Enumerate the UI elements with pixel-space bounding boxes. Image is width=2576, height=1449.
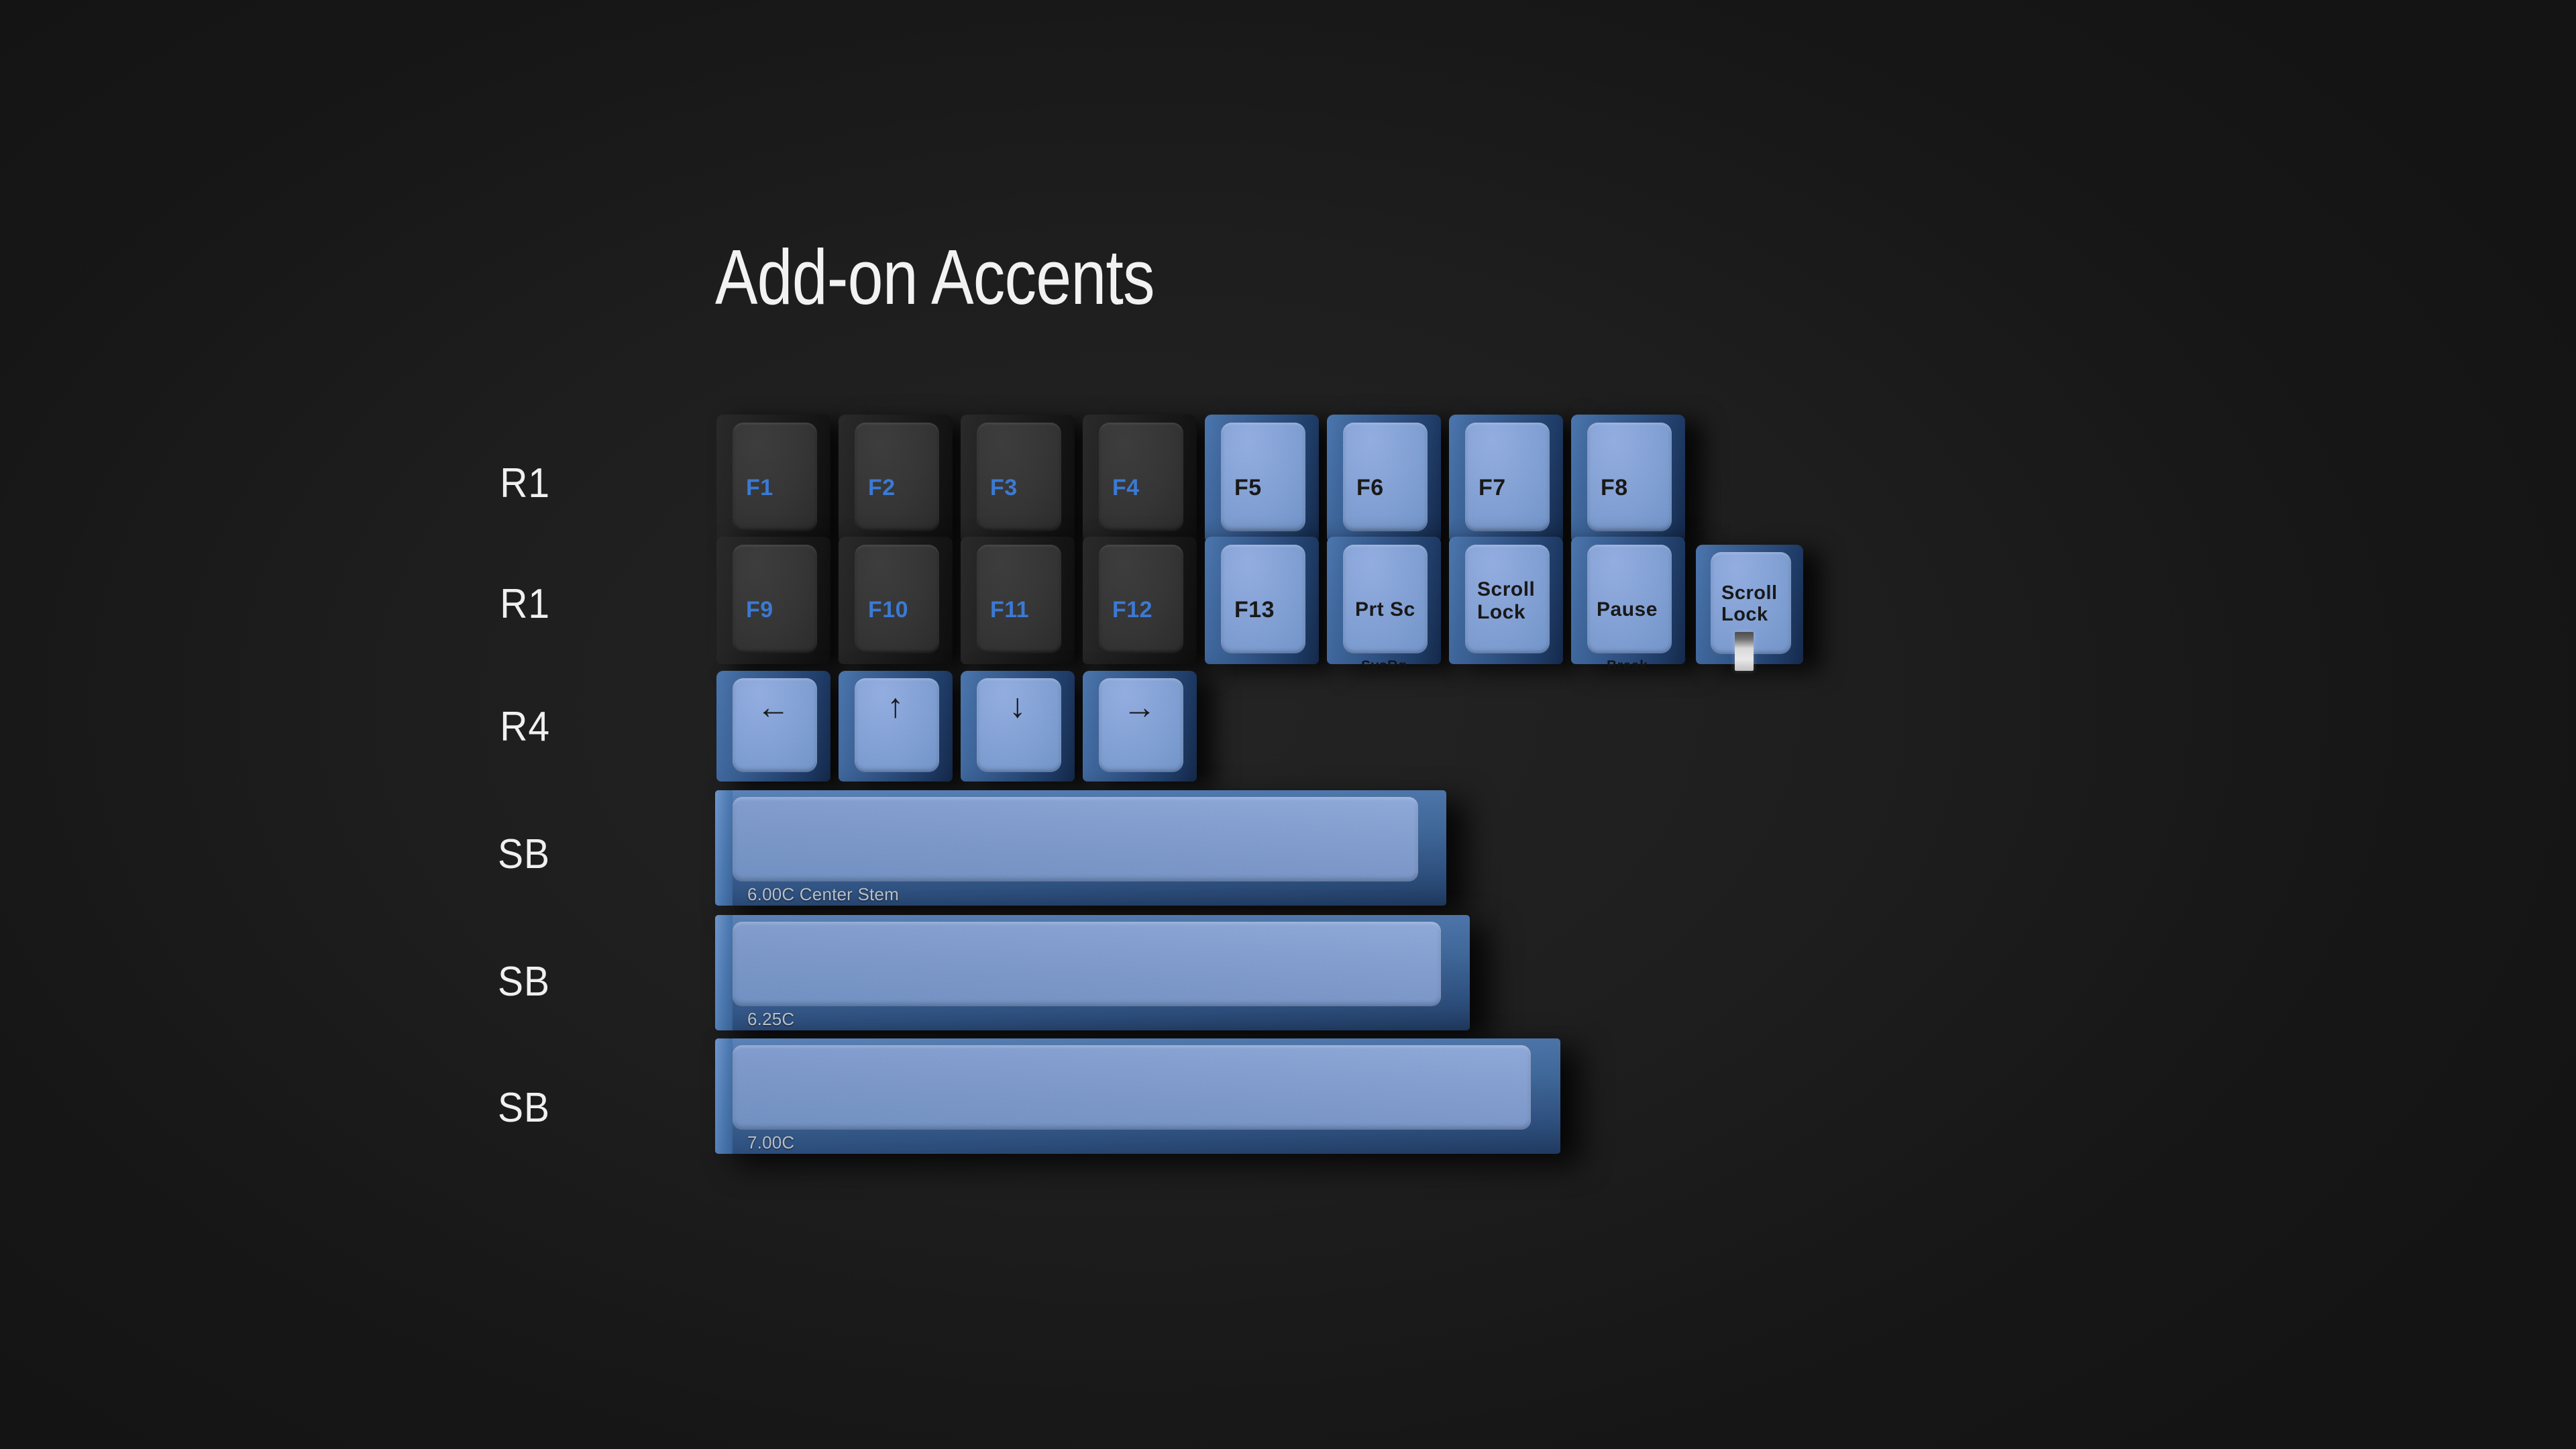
keycap-legend: F5	[1234, 475, 1262, 500]
keycap-face	[855, 423, 939, 531]
keycap-arrow-up[interactable]: ↑	[839, 671, 953, 782]
spacebar-face	[733, 922, 1441, 1006]
keycap-legend: F10	[868, 597, 908, 623]
keycap-face	[1465, 423, 1550, 531]
spacebar-face	[733, 1045, 1531, 1130]
keycap-legend: Scroll Lock	[1721, 582, 1778, 626]
keycap-f10[interactable]: F10	[839, 537, 953, 664]
keycap-arrow-left[interactable]: ←	[716, 671, 830, 782]
led-indicator-icon	[1735, 632, 1754, 671]
keycap-legend: Pause	[1597, 598, 1658, 621]
row-label-r4: R4	[396, 703, 550, 751]
keycap-legend: Prt Sc	[1355, 598, 1415, 621]
row-label-r1-top: R1	[396, 460, 550, 507]
keycap-f7[interactable]: F7	[1449, 415, 1563, 542]
keycap-legend: F6	[1356, 475, 1384, 500]
keycap-scroll-lock-led[interactable]: Scroll Lock	[1696, 545, 1803, 664]
keycap-scroll-lock[interactable]: Scroll Lock	[1449, 537, 1563, 664]
keycap-face	[733, 423, 817, 531]
spacebar-bevel	[715, 915, 733, 1030]
keycap-face	[1587, 423, 1672, 531]
keycap-front-legend-sysrq: SysRq	[1361, 658, 1407, 674]
keycap-legend: F12	[1112, 597, 1152, 623]
spacebar-size-note: 7.00C	[747, 1132, 794, 1153]
keycap-legend: F1	[746, 475, 773, 500]
keycap-f11[interactable]: F11	[961, 537, 1075, 664]
spacebar-6-25c[interactable]: 6.25C	[715, 915, 1470, 1030]
spacebar-bevel	[715, 1038, 733, 1154]
keycap-f2[interactable]: F2	[839, 415, 953, 542]
keycap-legend: F13	[1234, 597, 1275, 623]
keycap-arrow-right[interactable]: →	[1083, 671, 1197, 782]
keycap-arrow-down[interactable]: ↓	[961, 671, 1075, 782]
spacebar-7-00c[interactable]: 7.00C	[715, 1038, 1560, 1154]
keycap-face	[733, 545, 817, 653]
keycap-legend: F4	[1112, 475, 1140, 500]
row-label-sb-700: SB	[396, 1084, 550, 1132]
row-label-sb-600: SB	[396, 830, 550, 878]
keycap-face	[977, 423, 1061, 531]
keycap-pause[interactable]: Pause Break	[1571, 537, 1685, 664]
keycap-f3[interactable]: F3	[961, 415, 1075, 542]
keycap-legend: F9	[746, 597, 773, 623]
spacebar-face	[733, 797, 1418, 881]
keycap-legend: F8	[1601, 475, 1628, 500]
keycap-legend: F2	[868, 475, 896, 500]
keycap-f5[interactable]: F5	[1205, 415, 1319, 542]
keycap-f9[interactable]: F9	[716, 537, 830, 664]
keycap-face	[1099, 423, 1183, 531]
spacebar-size-note: 6.00C Center Stem	[747, 884, 899, 905]
arrow-up-icon: ↑	[839, 687, 953, 724]
keycap-f13[interactable]: F13	[1205, 537, 1319, 664]
keycap-print-screen[interactable]: Prt Sc SysRq	[1327, 537, 1441, 664]
spacebar-6-00c[interactable]: 6.00C Center Stem	[715, 790, 1446, 906]
keycap-face	[1343, 423, 1428, 531]
row-label-r1-second: R1	[396, 580, 550, 628]
keycap-f8[interactable]: F8	[1571, 415, 1685, 542]
spacebar-size-note: 6.25C	[747, 1009, 794, 1030]
keycap-legend: F3	[990, 475, 1018, 500]
keycap-front-legend-break: Break	[1607, 658, 1648, 674]
spacebar-bevel	[715, 790, 733, 906]
keycap-f1[interactable]: F1	[716, 415, 830, 542]
keycap-face	[1221, 423, 1305, 531]
keycap-layout-stage: R1 R1 R4 SB SB SB F1 F2 F3 F4 F5 F6 F7	[0, 0, 2576, 1449]
keycap-legend: F7	[1479, 475, 1506, 500]
keycap-f6[interactable]: F6	[1327, 415, 1441, 542]
keycap-legend: F11	[990, 597, 1029, 623]
arrow-right-icon: →	[1083, 688, 1197, 726]
keycap-f12[interactable]: F12	[1083, 537, 1197, 664]
arrow-left-icon: ←	[716, 688, 830, 726]
arrow-down-icon: ↓	[961, 687, 1075, 724]
keycap-f4[interactable]: F4	[1083, 415, 1197, 542]
row-label-sb-625: SB	[396, 958, 550, 1006]
keycap-legend: Scroll Lock	[1477, 578, 1535, 623]
